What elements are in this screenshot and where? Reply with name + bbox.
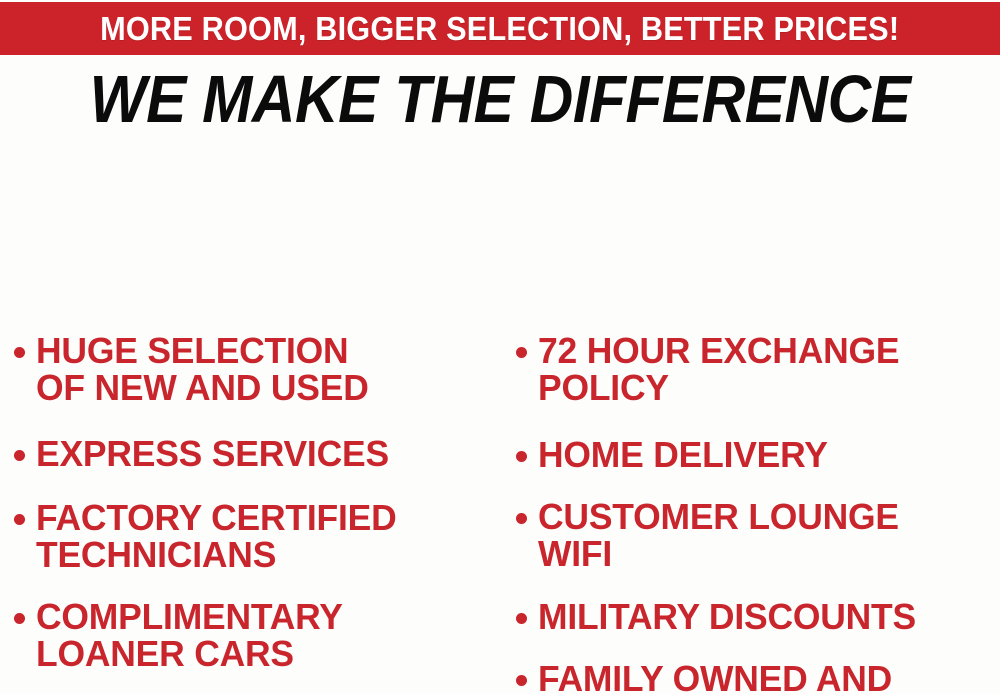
bullet-dot-icon — [14, 613, 25, 624]
benefit-list-item-label: MILITARY DISCOUNTS — [538, 598, 916, 635]
benefit-list-item: FACTORY CERTIFIED TECHNICIANS — [14, 499, 402, 573]
benefit-list-item: EXPRESS SERVICES — [14, 435, 394, 472]
benefit-list-item: MILITARY DISCOUNTS — [516, 598, 922, 635]
benefit-list-item-label: EXPRESS SERVICES — [36, 435, 389, 472]
benefit-list-item-label: HOME DELIVERY — [538, 436, 828, 473]
benefit-list-item: COMPLIMENTARY LOANER CARS — [14, 598, 347, 672]
benefits-column-left: HUGE SELECTION OF NEW AND USEDEXPRESS SE… — [14, 160, 504, 694]
benefit-list-item-label: COMPLIMENTARY LOANER CARS — [36, 598, 343, 672]
page-title: WE MAKE THE DIFFERENCE — [0, 66, 1000, 133]
benefit-list-item: HOME DELIVERY — [516, 436, 832, 473]
benefit-list-item: HUGE SELECTION OF NEW AND USED — [14, 332, 374, 406]
promotional-poster: MORE ROOM, BIGGER SELECTION, BETTER PRIC… — [0, 0, 1000, 694]
bullet-dot-icon — [516, 347, 527, 358]
benefit-list-item-label: 72 HOUR EXCHANGE POLICY — [538, 332, 899, 406]
top-banner: MORE ROOM, BIGGER SELECTION, BETTER PRIC… — [0, 2, 1000, 55]
benefit-list-item: CUSTOMER LOUNGE WIFI — [516, 498, 904, 572]
benefit-list-item-label: FAMILY OWNED AND OPERATED — [538, 660, 892, 694]
bullet-dot-icon — [516, 513, 527, 524]
benefit-list-item: 72 HOUR EXCHANGE POLICY — [516, 332, 905, 406]
bullet-dot-icon — [14, 347, 25, 358]
bullet-dot-icon — [516, 451, 527, 462]
bullet-dot-icon — [516, 613, 527, 624]
bullet-dot-icon — [14, 514, 25, 525]
benefits-column-right: 72 HOUR EXCHANGE POLICYHOME DELIVERYCUST… — [516, 160, 1000, 694]
bullet-dot-icon — [516, 675, 527, 686]
benefit-list-item: FAMILY OWNED AND OPERATED — [516, 660, 898, 694]
benefit-list-item-label: CUSTOMER LOUNGE WIFI — [538, 498, 899, 572]
page-title-text: WE MAKE THE DIFFERENCE — [90, 66, 911, 133]
benefit-list-item-label: HUGE SELECTION OF NEW AND USED — [36, 332, 369, 406]
benefit-list-item-label: FACTORY CERTIFIED TECHNICIANS — [36, 499, 396, 573]
benefits-columns: HUGE SELECTION OF NEW AND USEDEXPRESS SE… — [0, 160, 1000, 694]
bullet-dot-icon — [14, 450, 25, 461]
banner-headline-text: MORE ROOM, BIGGER SELECTION, BETTER PRIC… — [100, 12, 899, 45]
